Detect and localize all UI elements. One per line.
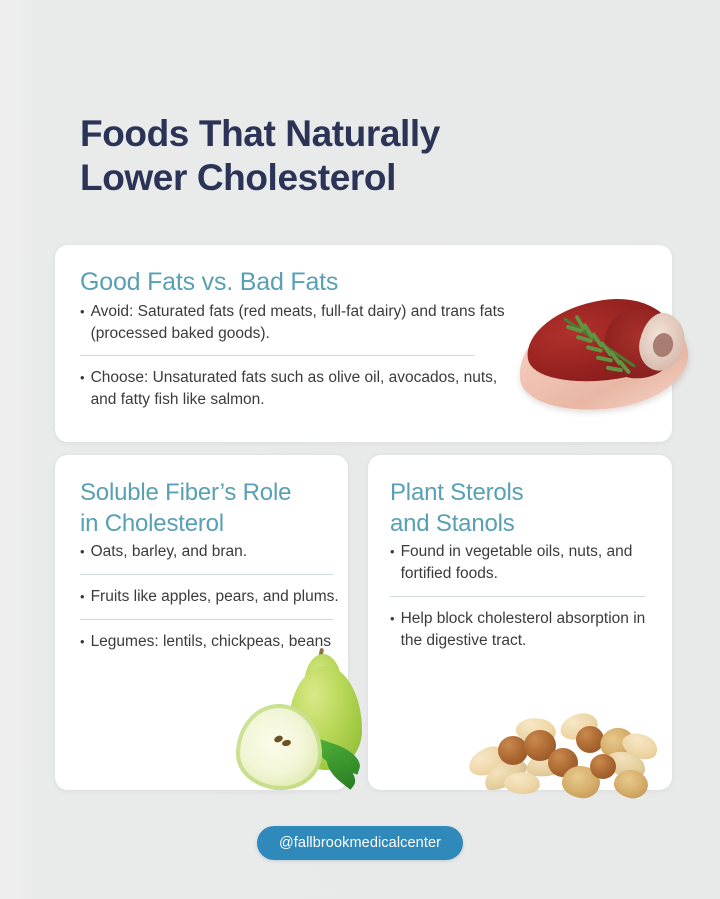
page-title-line-2: Lower Cholesterol — [80, 156, 640, 200]
card-divider — [80, 619, 333, 620]
card-good-fats-heading: Good Fats vs. Bad Fats — [80, 267, 510, 297]
card-divider — [390, 596, 645, 597]
bullet-dot-icon: • — [390, 608, 395, 630]
bullet-dot-icon: • — [80, 367, 85, 389]
card-plant-sterols-heading-line-2: and Stanols — [390, 508, 658, 539]
rosemary-leaf — [596, 355, 613, 362]
green-pear-photo — [232, 648, 387, 790]
card-soluble-fiber-content: Soluble Fiber’s Role in Cholesterol • Oa… — [55, 455, 342, 653]
bullet-dot-icon: • — [80, 541, 85, 563]
rosemary-sprig-icon — [564, 309, 656, 385]
hazelnut — [590, 754, 616, 779]
page-title-line-1: Foods That Naturally — [80, 112, 640, 156]
card-good-fats-content: Good Fats vs. Bad Fats • Avoid: Saturate… — [55, 245, 510, 410]
list-item: • Oats, barley, and bran. — [80, 541, 342, 563]
list-item-text: Oats, barley, and bran. — [91, 541, 342, 563]
list-item: • Avoid: Saturated fats (red meats, full… — [80, 301, 510, 344]
list-item: • Help block cholesterol absorption in t… — [390, 608, 658, 652]
card-soluble-fiber-heading: Soluble Fiber’s Role in Cholesterol — [80, 477, 342, 539]
mixed-nuts-photo — [464, 700, 664, 810]
list-item-text: Fruits like apples, pears, and plums. — [91, 586, 342, 608]
list-item: • Fruits like apples, pears, and plums. — [80, 586, 342, 608]
list-item-text: Choose: Unsaturated fats such as olive o… — [91, 367, 510, 410]
list-item-text: Help block cholesterol absorption in the… — [401, 608, 658, 652]
bullet-dot-icon: • — [390, 541, 395, 563]
page-title: Foods That Naturally Lower Cholesterol — [80, 112, 640, 200]
list-item-text: Avoid: Saturated fats (red meats, full-f… — [91, 301, 510, 344]
list-item: • Found in vegetable oils, nuts, and for… — [390, 541, 658, 585]
bullet-dot-icon: • — [80, 586, 85, 608]
infographic-canvas: Foods That Naturally Lower Cholesterol G… — [0, 0, 720, 899]
list-item: • Choose: Unsaturated fats such as olive… — [80, 367, 510, 410]
social-handle-text: @fallbrookmedicalcenter — [279, 835, 441, 851]
list-item-text: Found in vegetable oils, nuts, and forti… — [401, 541, 658, 585]
card-divider — [80, 574, 333, 575]
bullet-dot-icon: • — [80, 631, 85, 653]
social-handle-badge[interactable]: @fallbrookmedicalcenter — [257, 826, 463, 860]
card-plant-sterols-heading-line-1: Plant Sterols — [390, 477, 658, 508]
card-divider — [80, 355, 475, 356]
bullet-dot-icon: • — [80, 301, 85, 323]
card-soluble-fiber-heading-line-2: in Cholesterol — [80, 508, 342, 539]
card-plant-sterols-content: Plant Sterols and Stanols • Found in veg… — [368, 455, 658, 652]
raw-steak-photo — [512, 283, 702, 423]
rosemary-leaf — [606, 366, 623, 372]
hazelnut — [498, 736, 528, 765]
card-soluble-fiber-heading-line-1: Soluble Fiber’s Role — [80, 477, 342, 508]
card-plant-sterols-heading: Plant Sterols and Stanols — [390, 477, 658, 539]
